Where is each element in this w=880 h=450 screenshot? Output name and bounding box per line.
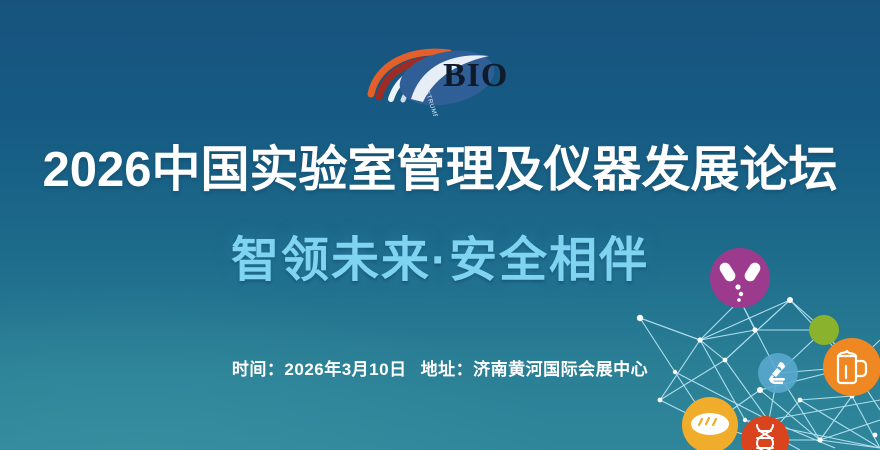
event-info-line: 时间：2026年3月10日地址：济南黄河国际会展中心: [0, 357, 880, 383]
time-value: 2026年3月10日: [284, 360, 406, 379]
bio-logo: INSTRUMENTATION BIO: [0, 44, 880, 116]
conference-poster: INSTRUMENTATION BIO 2026中国实验室管理及仪器发展论坛 智…: [0, 0, 880, 450]
bread-icon: [691, 413, 729, 435]
address-label: 地址：: [421, 360, 474, 379]
bio-logo-mark: INSTRUMENTATION BIO: [365, 44, 515, 116]
time-label: 时间：: [232, 360, 285, 379]
page-title: 2026中国实验室管理及仪器发展论坛: [0, 139, 880, 201]
address-value: 济南黄河国际会展中心: [473, 360, 648, 379]
bread-node: [682, 397, 738, 450]
page-subtitle: 智领未来·安全相伴: [0, 229, 880, 293]
green-dot-node: [809, 315, 839, 345]
logo-brand-text: BIO: [443, 57, 508, 94]
